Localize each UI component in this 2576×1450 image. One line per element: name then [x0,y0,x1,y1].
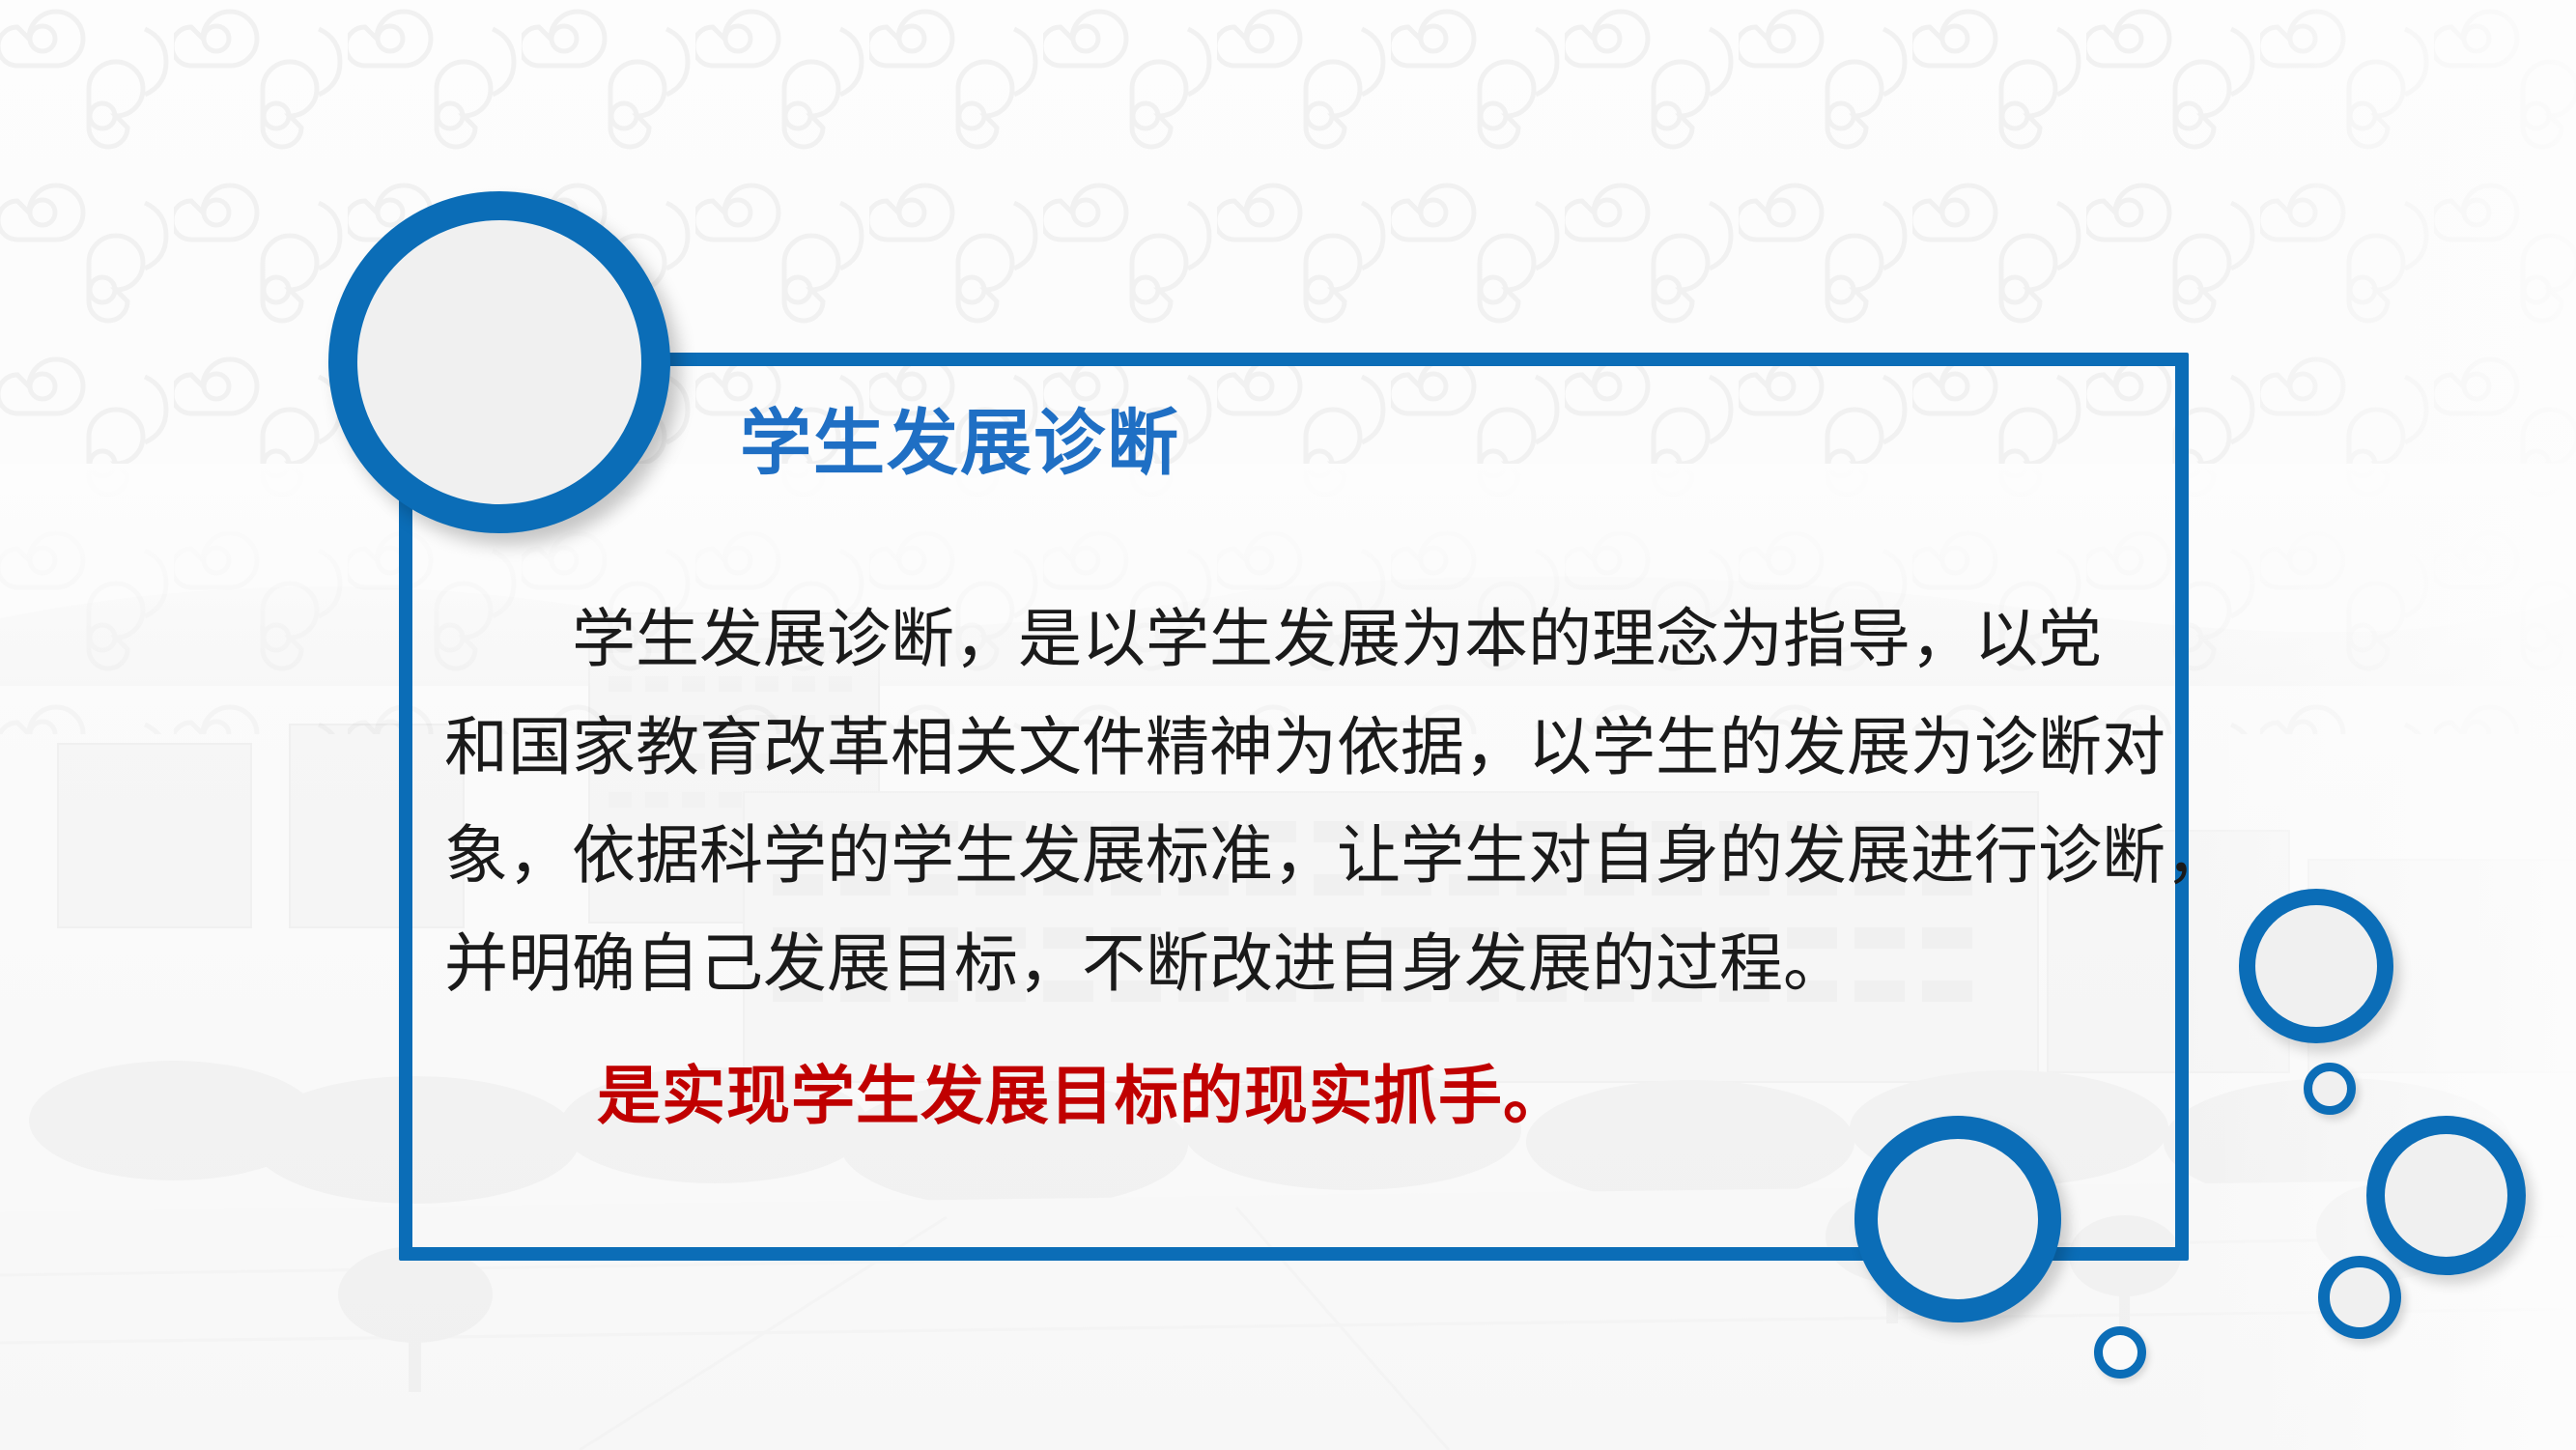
decorative-ring-right-tiny [2318,1256,2401,1339]
decorative-ring-right-small [2304,1063,2356,1115]
decorative-ring-right-large [2366,1116,2526,1275]
decorative-ring-right-upper [2239,889,2393,1043]
decorative-ring-dot-bottom [2094,1326,2146,1379]
card-body: 学生发展诊断，是以学生发展为本的理念为指导，以党 和国家教育改革相关文件精神为依… [444,584,2125,1017]
decorative-ring-large-topleft [328,191,670,533]
body-line-3: 象，依据科学的学生发展标准，让学生对自身的发展进行诊断， [444,801,2125,909]
body-line-2: 和国家教育改革相关文件精神为依据，以学生的发展为诊断对 [444,693,2125,801]
highlight-statement: 是实现学生发展目标的现实抓手。 [597,1041,1568,1150]
body-line-4: 并明确自己发展目标，不断改进自身发展的过程。 [444,909,2125,1017]
slide-canvas: 学生发展诊断 学生发展诊断，是以学生发展为本的理念为指导，以党 和国家教育改革相… [0,0,2576,1450]
card-title: 学生发展诊断 [740,406,1180,481]
body-line-1: 学生发展诊断，是以学生发展为本的理念为指导，以党 [444,584,2125,693]
decorative-ring-frame-bottom [1854,1116,2061,1322]
